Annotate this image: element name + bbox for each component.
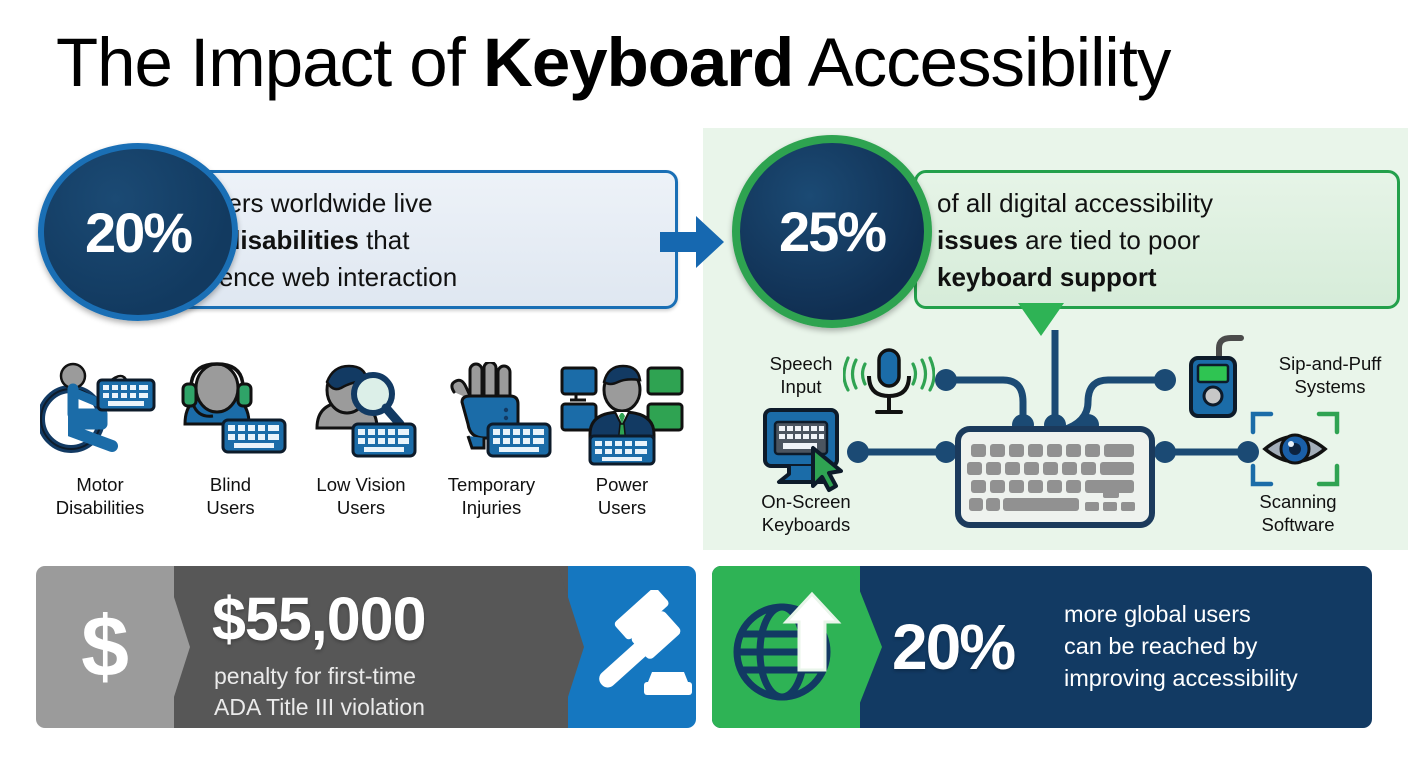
- persona-motor-disabilities: Motor Disabilities: [36, 358, 164, 538]
- persona-label: Low Vision Users: [297, 473, 425, 519]
- persona-label-line-1: Motor: [36, 473, 164, 496]
- node-label-sip-and-puff: Sip-and-Puff Systems: [1260, 352, 1400, 398]
- stat-card-keyboard-issues: of all digital accessibility issues are …: [722, 143, 1394, 321]
- page-title: The Impact of Keyboard Accessibility: [56, 22, 1376, 104]
- stat-text-line-2: issues are tied to poor: [937, 222, 1397, 259]
- eye-scan-icon: [1249, 408, 1341, 495]
- stat-text-line-2: with disabilities that: [171, 222, 671, 259]
- label-line-1: On-Screen: [731, 490, 881, 513]
- persona-temporary-injuries: Temporary Injuries: [428, 358, 556, 538]
- label-line-2: Keyboards: [731, 513, 881, 536]
- stat-text-line-3: keyboard support: [937, 259, 1397, 296]
- stat-badge-circle: 25%: [732, 135, 932, 328]
- label-line-2: Input: [753, 375, 849, 398]
- label-line-1: Speech: [753, 352, 849, 375]
- label-line-2: Software: [1223, 513, 1373, 536]
- label-line-1: Scanning: [1223, 490, 1373, 513]
- reach-sub-line-2: can be reached by: [1064, 630, 1364, 662]
- persona-power-users: Power Users: [558, 358, 686, 538]
- persona-label-line-2: Injuries: [428, 496, 556, 519]
- stat-percent-value: 25%: [740, 143, 924, 320]
- penalty-sub-line-1: penalty for first-time: [214, 661, 564, 692]
- reach-sub-line-1: more global users: [1064, 598, 1364, 630]
- line2-bold: disabilities: [224, 225, 358, 255]
- keyboard-hub-diagram: Speech Input Sip-and-Puff Systems: [703, 330, 1408, 550]
- stat-text-line-1: of users worldwide live: [171, 185, 671, 222]
- headset-user-keyboard-icon: [167, 358, 295, 466]
- node-label-speech-input: Speech Input: [753, 352, 849, 398]
- penalty-sub-line-2: ADA Title III violation: [214, 692, 564, 723]
- microphone-icon: [843, 346, 935, 423]
- flow-arrow-icon: [660, 212, 726, 272]
- stat-percent-value: 20%: [44, 149, 232, 315]
- persona-blind-users: Blind Users: [167, 358, 295, 538]
- persona-label: Motor Disabilities: [36, 473, 164, 519]
- chevron-divider: [850, 566, 882, 728]
- stat-text-line-1: of all digital accessibility: [937, 185, 1397, 222]
- persona-label-line-2: Disabilities: [36, 496, 164, 519]
- reach-description: more global users can be reached by impr…: [1064, 598, 1364, 694]
- reach-stat-card: 20% more global users can be reached by …: [712, 566, 1372, 728]
- persona-label-line-1: Low Vision: [297, 473, 425, 496]
- gloved-hand-keyboard-icon: [428, 358, 556, 466]
- title-part-1: The Impact of: [56, 24, 483, 101]
- persona-label-line-2: Users: [167, 496, 295, 519]
- stat-text-line-3: influence web interaction: [171, 259, 671, 296]
- on-screen-keyboard-monitor-icon: [761, 408, 853, 499]
- penalty-description: penalty for first-time ADA Title III vio…: [214, 661, 564, 723]
- node-label-scanning-software: Scanning Software: [1223, 490, 1373, 536]
- stat-badge-circle: 20%: [38, 143, 238, 321]
- magnifier-user-keyboard-icon: [297, 358, 425, 466]
- gavel-icon: [588, 590, 696, 704]
- line3-bold: keyboard support: [937, 262, 1157, 292]
- title-keyword: Keyboard: [483, 24, 793, 101]
- sip-and-puff-device-icon: [1183, 334, 1255, 427]
- persona-low-vision-users: Low Vision Users: [297, 358, 425, 538]
- stat-card-text: of all digital accessibility issues are …: [937, 185, 1397, 296]
- persona-label-line-1: Temporary: [428, 473, 556, 496]
- persona-row: Motor Disabilities: [36, 358, 686, 538]
- reach-sub-line-3: improving accessibility: [1064, 662, 1364, 694]
- penalty-stat-card: $ $55,000 penalty for first-time ADA Tit…: [36, 566, 696, 728]
- label-line-1: Sip-and-Puff: [1260, 352, 1400, 375]
- infographic-canvas: The Impact of Keyboard Accessibility of …: [0, 0, 1408, 768]
- multi-monitor-user-keyboard-icon: [558, 358, 686, 466]
- persona-label-line-1: Power: [558, 473, 686, 496]
- persona-label-line-2: Users: [297, 496, 425, 519]
- persona-label: Blind Users: [167, 473, 295, 519]
- stat-card-users-worldwide: of users worldwide live with disabilitie…: [38, 143, 678, 321]
- title-part-2: Accessibility: [793, 24, 1170, 101]
- label-line-2: Systems: [1260, 375, 1400, 398]
- dollar-sign-icon: $: [36, 566, 174, 728]
- globe-arrow-up-icon: [730, 586, 848, 708]
- wheelchair-keyboard-icon: [36, 358, 164, 466]
- persona-label-line-2: Users: [558, 496, 686, 519]
- line2-post: that: [359, 225, 410, 255]
- line2-bold: issues: [937, 225, 1018, 255]
- persona-label-line-1: Blind: [167, 473, 295, 496]
- line2-post: are tied to poor: [1018, 225, 1200, 255]
- stat-card-text: of users worldwide live with disabilitie…: [171, 185, 671, 296]
- persona-label: Temporary Injuries: [428, 473, 556, 519]
- penalty-amount: $55,000: [212, 586, 572, 652]
- keyboard-hub-icon: [955, 426, 1155, 533]
- node-label-on-screen-keyboards: On-Screen Keyboards: [731, 490, 881, 536]
- persona-label: Power Users: [558, 473, 686, 519]
